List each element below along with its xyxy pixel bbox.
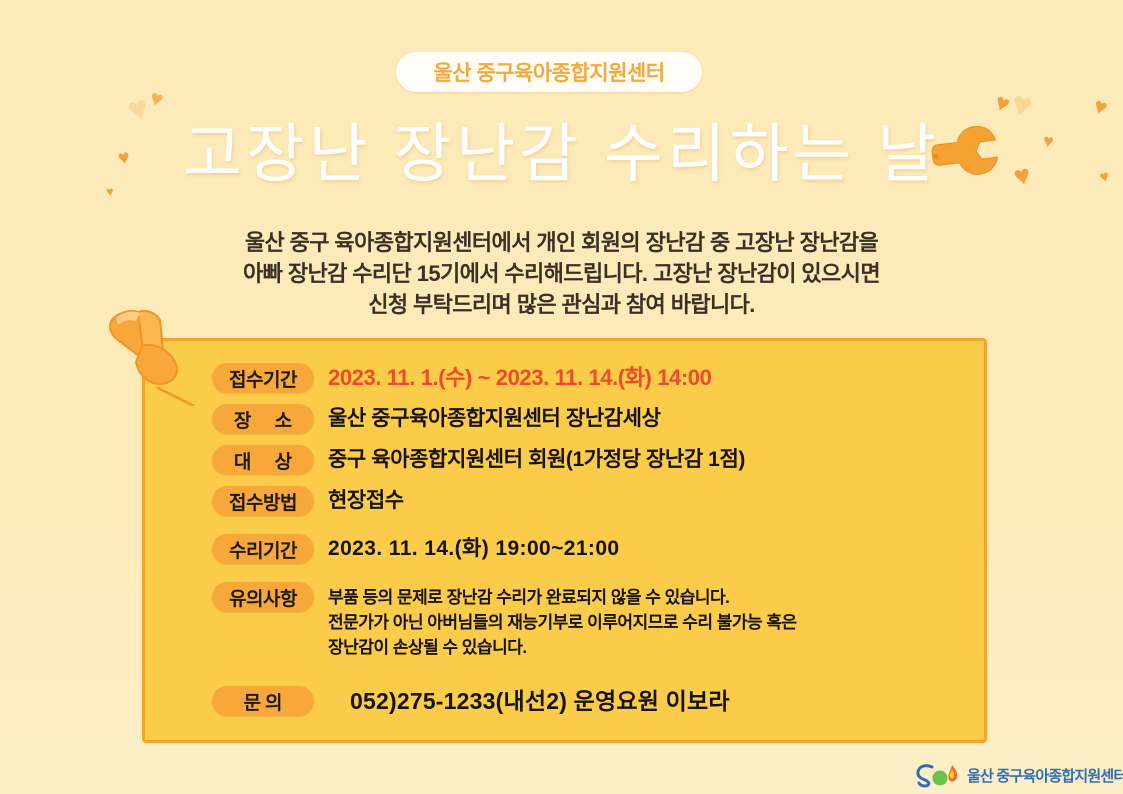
intro-paragraph: 울산 중구 육아종합지원센터에서 개인 회원의 장난감 중 고장난 장난감을 아… [120,227,1003,320]
footer-logo-label: 울산 중구육아종합지원센터 [967,765,1123,786]
poster-canvas: 울산 중구육아종합지원센터 ♥ ♥ ♥ ♥ ♥ ♥ ♥ ♥ ♥ ♥ 고장난 장난… [0,0,1123,794]
intro-line-3: 신청 부탁드리며 많은 관심과 참여 바랍니다. [120,289,1003,320]
row-label-notes: 유의사항 [212,582,314,612]
notes-line-2: 전문가가 아닌 아버님들의 재능기부로 이루어지므로 수리 불가능 혹은 [328,610,797,635]
row-value-application-period: 2023. 11. 1.(수) ~ 2023. 11. 14.(화) 14:00 [328,363,711,393]
center-logo-icon [916,762,960,788]
organization-badge: 울산 중구육아종합지원센터 [396,52,702,92]
row-label-application-method: 접수방법 [212,486,314,516]
info-row-notes: 유의사항 부품 등의 문제로 장난감 수리가 완료되지 않을 수 있습니다. 전… [145,582,990,660]
row-value-target: 중구 육아종합지원센터 회원(1가정당 장난감 1점) [328,445,745,475]
footer-logo: 울산 중구육아종합지원센터 [916,762,1123,788]
row-label-target: 대 상 [212,445,314,475]
info-card: 접수기간 2023. 11. 1.(수) ~ 2023. 11. 14.(화) … [142,338,987,743]
intro-line-2: 아빠 장난감 수리단 15기에서 수리해드립니다. 고장난 장난감이 있으시면 [120,258,1003,289]
row-value-application-method: 현장접수 [328,486,404,516]
info-row-contact: 문의 052)275-1233(내선2) 운영요원 이보라 [145,686,990,716]
info-row-location: 장 소 울산 중구육아종합지원센터 장난감세상 [145,404,990,434]
row-value-contact: 052)275-1233(내선2) 운영요원 이보라 [350,686,730,716]
row-label-repair-period: 수리기간 [212,534,314,564]
intro-line-1: 울산 중구 육아종합지원센터에서 개인 회원의 장난감 중 고장난 장난감을 [120,227,1003,258]
row-label-contact: 문의 [212,686,314,716]
row-label-location: 장 소 [212,404,314,434]
row-label-application-period: 접수기간 [212,363,314,393]
row-value-location: 울산 중구육아종합지원센터 장난감세상 [328,404,661,434]
pushpin-icon [98,302,216,406]
notes-line-3: 장난감이 손상될 수 있습니다. [328,635,797,660]
info-row-repair-period: 수리기간 2023. 11. 14.(화) 19:00~21:00 [145,534,990,564]
info-rows: 접수기간 2023. 11. 1.(수) ~ 2023. 11. 14.(화) … [145,341,990,727]
organization-badge-label: 울산 중구육아종합지원센터 [433,57,664,87]
row-value-repair-period: 2023. 11. 14.(화) 19:00~21:00 [328,534,619,564]
notes-line-1: 부품 등의 문제로 장난감 수리가 완료되지 않을 수 있습니다. [328,585,797,610]
info-row-target: 대 상 중구 육아종합지원센터 회원(1가정당 장난감 1점) [145,445,990,475]
wrench-icon [929,117,1001,193]
info-row-application-period: 접수기간 2023. 11. 1.(수) ~ 2023. 11. 14.(화) … [145,363,990,393]
info-row-application-method: 접수방법 현장접수 [145,486,990,516]
row-value-notes: 부품 등의 문제로 장난감 수리가 완료되지 않을 수 있습니다. 전문가가 아… [328,582,797,660]
